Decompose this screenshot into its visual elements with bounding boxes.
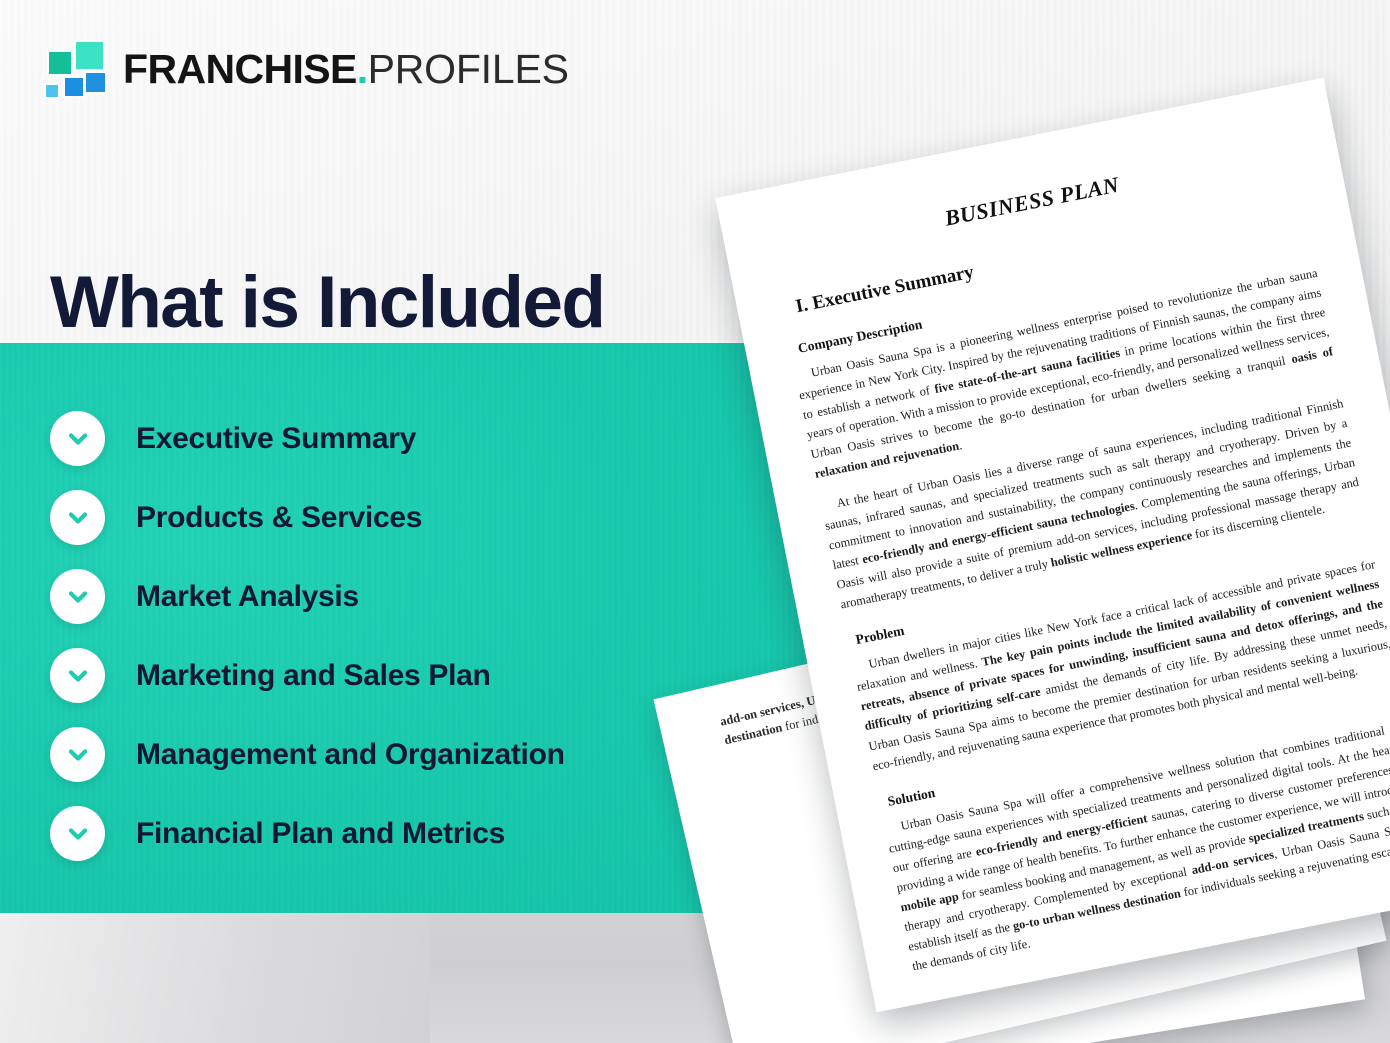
brand-name-strong: FRANCHISE	[123, 49, 357, 90]
chevron-down-icon[interactable]	[50, 490, 105, 545]
squares-logo-icon	[45, 40, 107, 98]
brand-logo[interactable]: FRANCHISE.PROFILES	[45, 40, 569, 98]
page-title: What is Included	[50, 265, 604, 342]
document-stack: add-on services, Urban Oasis Sauna Spa w…	[630, 120, 1390, 1043]
document-title: BUSINESS PLAN	[769, 137, 1296, 266]
slide-root: FRANCHISE.PROFILES What is Included Exec…	[0, 0, 1390, 1043]
chevron-down-icon[interactable]	[50, 648, 105, 703]
list-item-label: Executive Summary	[136, 424, 416, 454]
logo-square-blue-mid	[65, 78, 83, 96]
brand-wordmark: FRANCHISE.PROFILES	[123, 49, 569, 90]
list-item-label: Products & Services	[136, 503, 422, 533]
brand-name-dot: .	[357, 49, 368, 90]
logo-square-teal-light	[76, 42, 103, 69]
list-item-label: Market Analysis	[136, 582, 359, 612]
background-lower-shade	[0, 912, 430, 1043]
list-item-label: Management and Organization	[136, 740, 565, 770]
chevron-down-icon[interactable]	[50, 569, 105, 624]
logo-square-blue-right	[86, 73, 105, 92]
list-item-label: Financial Plan and Metrics	[136, 819, 505, 849]
list-item-label: Marketing and Sales Plan	[136, 661, 491, 691]
logo-square-blue-small	[46, 85, 58, 97]
chevron-down-icon[interactable]	[50, 806, 105, 861]
brand-name-light: PROFILES	[368, 49, 569, 90]
chevron-down-icon[interactable]	[50, 411, 105, 466]
chevron-down-icon[interactable]	[50, 727, 105, 782]
logo-square-teal-dark	[49, 52, 71, 74]
